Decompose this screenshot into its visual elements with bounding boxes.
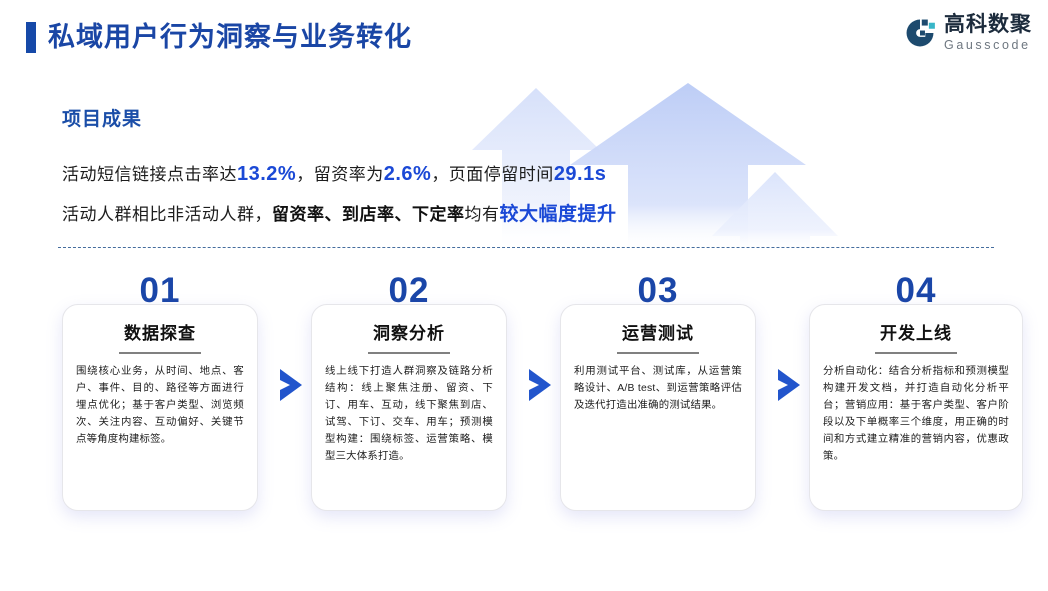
result-line-2: 活动人群相比非活动人群，留资率、到店率、下定率均有较大幅度提升: [62, 195, 617, 235]
step-rule-02: [368, 352, 450, 354]
section-divider: [58, 247, 994, 248]
step-card-02[interactable]: 02 洞察分析 线上线下打造人群洞察及链路分析结构：线上聚焦注册、留资、下订、用…: [311, 272, 507, 511]
brand-name-en: Gausscode: [944, 39, 1032, 52]
step-card-body-04[interactable]: 开发上线 分析自动化：结合分析指标和预测模型构建开发文档，并打造自动化分析平台；…: [809, 304, 1023, 511]
step-rule-01: [119, 352, 201, 354]
step-card-body-01[interactable]: 数据探查 围绕核心业务，从时间、地点、客户、事件、目的、路径等方面进行埋点优化；…: [62, 304, 258, 511]
step-card-body-03[interactable]: 运营测试 利用测试平台、测试库，从运营策略设计、A/B test、到运营策略评估…: [560, 304, 756, 511]
step-rule-04: [875, 352, 957, 354]
result-line-2-text-2: 均有: [465, 205, 500, 224]
result-line-2-text-1: 活动人群相比非活动人群，: [62, 205, 272, 224]
results-heading: 项目成果: [62, 108, 617, 132]
step-rule-03: [617, 352, 699, 354]
step-card-01[interactable]: 01 数据探查 围绕核心业务，从时间、地点、客户、事件、目的、路径等方面进行埋点…: [62, 272, 258, 511]
step-title-04: 开发上线: [823, 323, 1009, 345]
result-line-2-bold-metrics: 留资率、到店率、下定率: [272, 205, 465, 224]
result-line-1-text-1: 活动短信链接点击率达: [62, 165, 237, 184]
chevron-right-icon-1: [278, 368, 304, 402]
project-results-block: 项目成果 活动短信链接点击率达13.2%，留资率为2.6%，页面停留时间29.1…: [62, 108, 617, 235]
brand-logo: 高科数聚 Gausscode: [903, 14, 1032, 52]
chevron-right-icon-3: [776, 368, 802, 402]
gausscode-logo-icon: [903, 16, 937, 50]
step-card-body-02[interactable]: 洞察分析 线上线下打造人群洞察及链路分析结构：线上聚焦注册、留资、下订、用车、互…: [311, 304, 507, 511]
step-title-02: 洞察分析: [325, 323, 493, 345]
title-accent-bar: [26, 22, 36, 53]
result-line-1-text-2: ，留资率为: [296, 165, 384, 184]
process-steps: 01 数据探查 围绕核心业务，从时间、地点、客户、事件、目的、路径等方面进行埋点…: [0, 272, 1048, 532]
brand-logo-text: 高科数聚 Gausscode: [944, 14, 1032, 52]
metric-dwell-time: 29.1s: [554, 163, 607, 185]
result-line-2-highlight: 较大幅度提升: [500, 204, 617, 225]
up-arrow-small-right-icon: [712, 172, 838, 252]
page-title: 私域用户行为洞察与业务转化: [48, 18, 412, 56]
step-title-03: 运营测试: [574, 323, 742, 345]
step-body-03: 利用测试平台、测试库，从运营策略设计、A/B test、到运营策略评估及迭代打造…: [574, 363, 742, 414]
brand-name-cn: 高科数聚: [944, 14, 1032, 35]
step-body-04: 分析自动化：结合分析指标和预测模型构建开发文档，并打造自动化分析平台；营销应用：…: [823, 363, 1009, 465]
slide-root: 私域用户行为洞察与业务转化 高科数聚 Gausscode 项目成果 活动短信链接…: [0, 0, 1048, 591]
result-line-1-text-3: ，页面停留时间: [431, 165, 554, 184]
metric-click-rate: 13.2%: [237, 163, 296, 185]
metric-lead-rate: 2.6%: [384, 163, 432, 185]
step-title-01: 数据探查: [76, 323, 244, 345]
result-line-1: 活动短信链接点击率达13.2%，留资率为2.6%，页面停留时间29.1s: [62, 154, 617, 195]
step-card-03[interactable]: 03 运营测试 利用测试平台、测试库，从运营策略设计、A/B test、到运营策…: [560, 272, 756, 511]
step-body-01: 围绕核心业务，从时间、地点、客户、事件、目的、路径等方面进行埋点优化；基于客户类…: [76, 363, 244, 448]
step-card-04[interactable]: 04 开发上线 分析自动化：结合分析指标和预测模型构建开发文档，并打造自动化分析…: [809, 272, 1023, 511]
step-body-02: 线上线下打造人群洞察及链路分析结构：线上聚焦注册、留资、下订、用车、互动，线下聚…: [325, 363, 493, 465]
chevron-right-icon-2: [527, 368, 553, 402]
slide-header: 私域用户行为洞察与业务转化 高科数聚 Gausscode: [0, 0, 1048, 78]
